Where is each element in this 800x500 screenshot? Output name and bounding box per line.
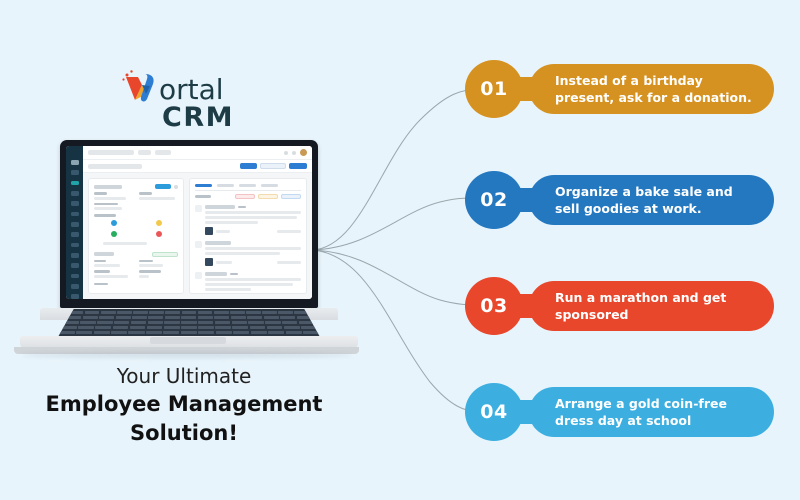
tagline-line-1: Your Ultimate bbox=[14, 362, 354, 390]
rail-icon[interactable] bbox=[71, 243, 79, 248]
callout-text-line-1: Arrange a gold coin-free bbox=[555, 395, 727, 412]
feed-icon bbox=[195, 241, 202, 248]
rail-icon[interactable] bbox=[71, 232, 79, 237]
rail-icon[interactable] bbox=[71, 263, 79, 268]
laptop-lid bbox=[60, 140, 318, 308]
laptop-trackpad bbox=[150, 337, 226, 344]
callout-text-line-2: dress day at school bbox=[555, 412, 727, 429]
laptop-mockup bbox=[14, 140, 359, 365]
callout-01[interactable]: 01Instead of a birthdaypresent, ask for … bbox=[465, 60, 774, 118]
primary-button[interactable] bbox=[240, 163, 257, 169]
callout-02[interactable]: 02Organize a bake sale andsell goodies a… bbox=[465, 171, 774, 229]
primary-button[interactable] bbox=[289, 163, 307, 169]
dashboard-topbar bbox=[83, 146, 312, 160]
callout-text-pill: Organize a bake sale andsell goodies at … bbox=[529, 175, 774, 225]
callout-number-badge: 02 bbox=[465, 171, 523, 229]
callout-text-pill: Arrange a gold coin-freedress day at sch… bbox=[529, 387, 774, 437]
rail-icon[interactable] bbox=[71, 284, 79, 289]
rail-logo-icon bbox=[71, 160, 79, 165]
topbar-chip[interactable] bbox=[138, 150, 151, 155]
activity-feed-card bbox=[189, 178, 307, 294]
callout-number-badge: 03 bbox=[465, 277, 523, 335]
feed-item[interactable] bbox=[195, 202, 301, 235]
status-chip bbox=[152, 252, 178, 257]
callout-text-pill: Instead of a birthdaypresent, ask for a … bbox=[529, 64, 774, 114]
rail-icon[interactable] bbox=[71, 253, 79, 258]
contact-info-label bbox=[94, 214, 116, 217]
secondary-button[interactable] bbox=[260, 163, 286, 169]
callout-text-line-2: present, ask for a donation. bbox=[555, 89, 752, 106]
topbar-search[interactable] bbox=[88, 150, 134, 155]
tagline-line-2: Employee Management bbox=[14, 390, 354, 419]
feed-icon bbox=[195, 205, 202, 212]
tagline: Your Ultimate Employee Management Soluti… bbox=[14, 362, 354, 448]
callout-03[interactable]: 03Run a marathon and getsponsored bbox=[465, 277, 774, 335]
callout-04[interactable]: 04Arrange a gold coin-freedress day at s… bbox=[465, 383, 774, 441]
dashboard-columns bbox=[83, 173, 312, 299]
contact-row bbox=[94, 231, 178, 239]
tagline-line-3: Solution! bbox=[14, 419, 354, 448]
tab-notes[interactable] bbox=[217, 184, 234, 187]
feed-item[interactable] bbox=[195, 269, 301, 294]
tab-emails[interactable] bbox=[261, 184, 278, 187]
rail-icon-active[interactable] bbox=[71, 181, 79, 186]
rail-icon[interactable] bbox=[71, 212, 79, 217]
callout-text-line-2: sponsored bbox=[555, 306, 726, 323]
wortal-crm-logo: ortal CRM bbox=[118, 66, 268, 138]
topbar-chip[interactable] bbox=[155, 150, 171, 155]
action-chip-meeting[interactable] bbox=[281, 194, 301, 199]
action-chip-call[interactable] bbox=[235, 194, 255, 199]
edit-chip[interactable] bbox=[155, 184, 171, 189]
dashboard-nav-rail[interactable] bbox=[66, 146, 83, 299]
tab-files[interactable] bbox=[239, 184, 256, 187]
overview-field bbox=[94, 203, 178, 211]
detail-field-row bbox=[94, 260, 178, 268]
overview-card-header bbox=[94, 184, 178, 189]
keyboard-keys bbox=[58, 309, 320, 337]
feed-icon bbox=[195, 272, 202, 279]
wortal-wordmark-icon: ortal bbox=[118, 66, 268, 106]
feed-item[interactable] bbox=[195, 238, 301, 266]
laptop-keyboard bbox=[58, 309, 320, 337]
dashboard-breadcrumb-bar bbox=[83, 160, 312, 173]
help-icon[interactable] bbox=[284, 151, 288, 155]
action-chip-task[interactable] bbox=[258, 194, 278, 199]
rail-icon[interactable] bbox=[71, 170, 79, 175]
rail-icon[interactable] bbox=[71, 222, 79, 227]
callout-text-line-1: Run a marathon and get bbox=[555, 289, 726, 306]
laptop-shadow bbox=[22, 352, 352, 358]
rail-icon[interactable] bbox=[71, 274, 79, 279]
detail-card-header bbox=[94, 252, 178, 257]
callout-number-badge: 01 bbox=[465, 60, 523, 118]
activity-tabs[interactable] bbox=[195, 184, 301, 191]
logo-crm-text: CRM bbox=[162, 102, 234, 133]
tab-activity[interactable] bbox=[195, 184, 212, 187]
infographic-canvas: ortal CRM bbox=[0, 0, 800, 500]
avatar[interactable] bbox=[300, 149, 307, 156]
callout-text-line-1: Organize a bake sale and bbox=[555, 183, 733, 200]
callout-text-pill: Run a marathon and getsponsored bbox=[529, 281, 774, 331]
rail-icon[interactable] bbox=[71, 201, 79, 206]
overview-field-row bbox=[94, 192, 178, 200]
bell-icon[interactable] bbox=[292, 151, 296, 155]
rail-icon[interactable] bbox=[71, 191, 79, 196]
rail-icon[interactable] bbox=[71, 294, 79, 299]
overview-card bbox=[88, 178, 184, 294]
overview-title bbox=[94, 185, 122, 189]
detail-field-row bbox=[94, 270, 178, 278]
callout-number-badge: 04 bbox=[465, 383, 523, 441]
callout-text-line-2: sell goodies at work. bbox=[555, 200, 733, 217]
callout-text-line-1: Instead of a birthday bbox=[555, 72, 752, 89]
feed-actionbar bbox=[195, 194, 301, 199]
more-icon[interactable] bbox=[174, 185, 178, 189]
crm-dashboard-screen bbox=[66, 146, 312, 299]
breadcrumb[interactable] bbox=[88, 164, 142, 169]
contact-row bbox=[94, 220, 178, 228]
dashboard-body bbox=[83, 146, 312, 299]
